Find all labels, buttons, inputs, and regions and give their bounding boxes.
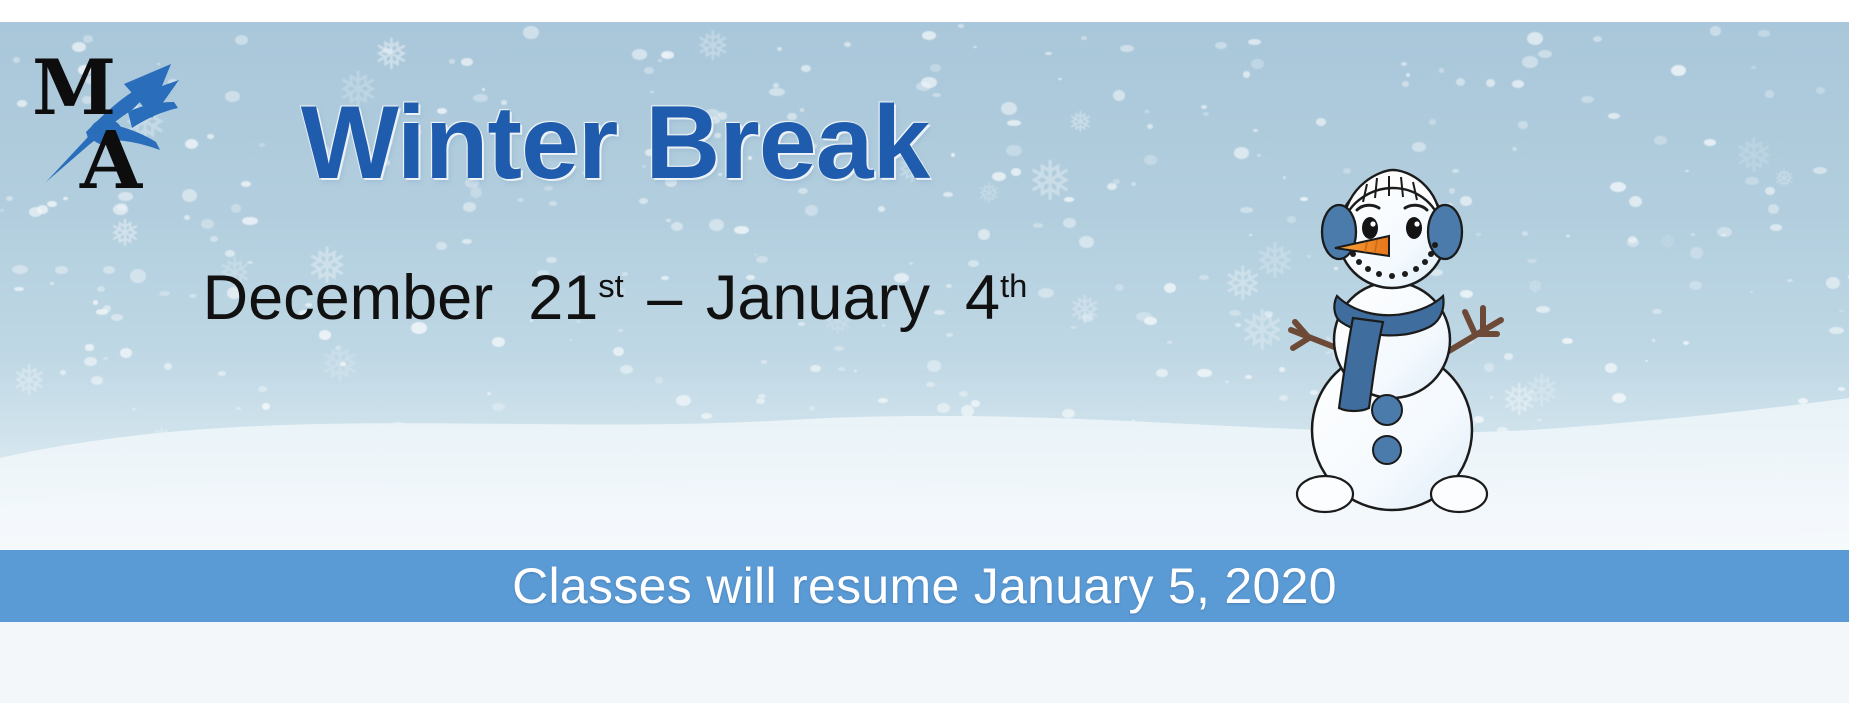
start-month: December — [203, 263, 494, 333]
winter-break-banner: ❅❅❅❅❅❅❅❅❅❅❅❅❅❅❅❅❅❅❅❅❅❅❅❅❅❅❅❅❅❅❅❅❅❅ — [0, 0, 1849, 725]
snowman-illustration — [1269, 162, 1519, 522]
date-range-text: December 21st – January 4th — [0, 262, 1230, 334]
snowman-left-foot — [1297, 476, 1353, 512]
earmuff-cup-right — [1428, 205, 1462, 259]
snowman-button-upper — [1372, 395, 1402, 425]
range-dash: – — [641, 263, 688, 333]
end-day: 4 — [965, 263, 1000, 333]
bottom-white-strip — [0, 622, 1849, 703]
footer-text: Classes will resume January 5, 2020 — [512, 557, 1337, 615]
start-ordinal: st — [598, 267, 623, 304]
banner-artwork-stage: ❅❅❅❅❅❅❅❅❅❅❅❅❅❅❅❅❅❅❅❅❅❅❅❅❅❅❅❅❅❅❅❅❅❅ — [0, 22, 1849, 703]
snowman-button-lower — [1373, 436, 1401, 464]
snowman-eye-left — [1362, 217, 1378, 239]
end-ordinal: th — [1000, 267, 1027, 304]
footer-banner: Classes will resume January 5, 2020 — [0, 550, 1849, 622]
end-month: January — [706, 263, 930, 333]
page-title: Winter Break — [0, 84, 1230, 203]
start-day: 21 — [528, 263, 598, 333]
snowman-right-foot — [1431, 476, 1487, 512]
snowman-eye-right — [1406, 217, 1422, 239]
